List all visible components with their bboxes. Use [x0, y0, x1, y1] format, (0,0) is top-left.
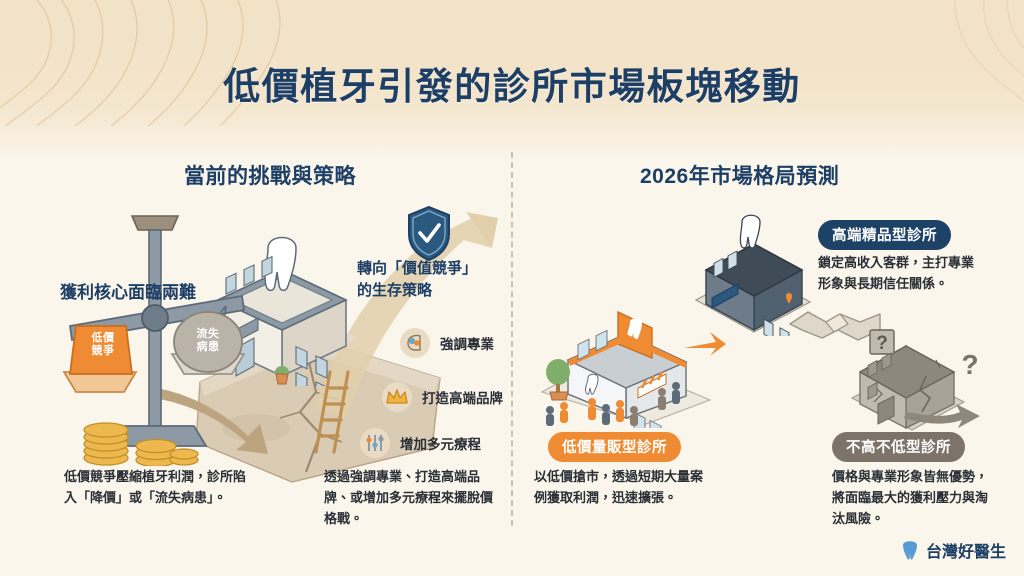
- crown-icon: [382, 382, 412, 412]
- brain-gear-icon: [400, 328, 430, 358]
- badge-premium-clinic[interactable]: 高端精品型診所: [818, 220, 951, 250]
- question-mark-icon: ?: [961, 349, 978, 380]
- strategy-note: 透過強調專業、打造高端品牌、或增加多元療程來擺脫價格戰。: [324, 466, 504, 529]
- left-column-header: 當前的挑戰與策略: [184, 160, 356, 190]
- brand-logo[interactable]: 台灣好醫生: [900, 538, 1006, 562]
- strategy-heading-line1: 轉向「價值競爭」: [357, 258, 507, 280]
- scale-right-pan-label: 流失 病患: [183, 328, 233, 353]
- dilemma-note: 低價競爭壓縮植牙利潤，診所陷入「降價」或「流失病患」。: [64, 466, 246, 508]
- coin-stack-icon: [72, 404, 202, 466]
- shield-check-icon: [405, 204, 453, 262]
- volume-clinic-icon: [534, 300, 726, 428]
- badge-midtier-clinic[interactable]: 不高不低型診所: [832, 432, 965, 462]
- sliders-icon: [360, 428, 390, 458]
- brand-name: 台灣好醫生: [926, 538, 1006, 562]
- badge-volume-clinic[interactable]: 低價量販型診所: [548, 432, 681, 462]
- strategy-item-label: 打造高端品牌: [422, 387, 503, 407]
- strategy-item-label: 強調專業: [440, 333, 494, 353]
- strategy-heading: 轉向「價值競爭」 的生存策略: [357, 258, 507, 302]
- declining-clinic-icon: ? ?: [848, 316, 992, 436]
- note-volume-clinic: 以低價搶市，透過短期大量案例獲取利潤，迅速擴張。: [534, 466, 710, 508]
- strategy-item-label: 增加多元療程: [400, 433, 481, 453]
- infographic-poster: 低價植牙引發的診所市場板塊移動 當前的挑戰與策略 2026年市場格局預測: [0, 0, 1024, 576]
- strategy-item-premium-brand[interactable]: 打造高端品牌: [382, 382, 503, 412]
- strategy-item-diverse-treatments[interactable]: 增加多元療程: [360, 428, 481, 458]
- ladder-icon: [308, 368, 354, 454]
- page-title: 低價植牙引發的診所市場板塊移動: [0, 56, 1024, 110]
- scale-left-pan-label: 低價 競爭: [78, 332, 128, 357]
- strategy-heading-line2: 的生存策略: [357, 280, 507, 302]
- note-premium-clinic: 鎖定高收入客群，主打專業形象與長期信任關係。: [818, 252, 974, 294]
- right-column-header: 2026年市場格局預測: [640, 160, 839, 190]
- strategy-item-expertise[interactable]: 強調專業: [400, 328, 494, 358]
- note-midtier-clinic: 價格與專業形象皆無優勢，將面臨最大的獲利壓力與淘汰風險。: [832, 466, 1000, 529]
- svg-text:?: ?: [876, 333, 888, 354]
- dilemma-label: 獲利核心面臨兩難: [60, 278, 196, 303]
- tooth-icon: [900, 539, 920, 561]
